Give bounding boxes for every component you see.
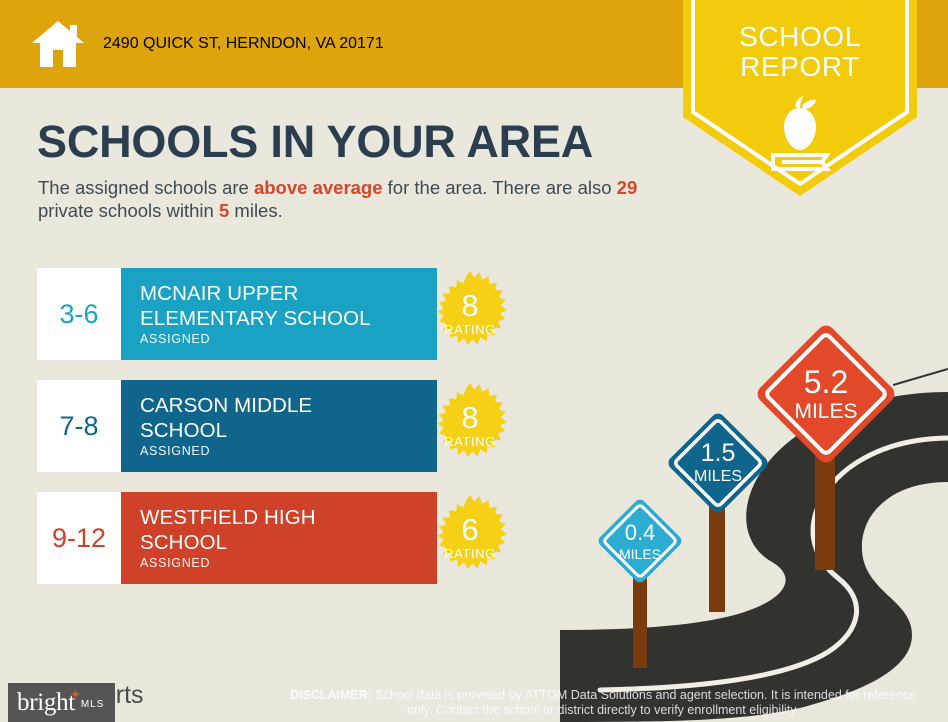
rating-badge: 8 RATING xyxy=(427,271,513,357)
school-row[interactable]: 9-12 WESTFIELD HIGH SCHOOL ASSIGNED 6 RA… xyxy=(37,492,517,584)
distance-unit: MILES xyxy=(794,401,857,422)
school-name: CARSON MIDDLE SCHOOL xyxy=(140,393,437,443)
rating-score: 8 xyxy=(461,291,478,321)
star-icon: ✦ xyxy=(70,687,81,703)
grade-range-box: 7-8 xyxy=(37,380,121,472)
grade-range: 3-6 xyxy=(59,299,98,330)
school-row[interactable]: 3-6 MCNAIR UPPER ELEMENTARY SCHOOL ASSIG… xyxy=(37,268,517,360)
rating-badge-content: 6 RATING xyxy=(427,495,513,581)
rating-score: 6 xyxy=(461,515,478,545)
rating-badge-content: 8 RATING xyxy=(427,383,513,469)
page-subtitle: The assigned schools are above average f… xyxy=(38,176,678,222)
school-report-badge: SCHOOL REPORT xyxy=(683,0,917,196)
school-status-label: ASSIGNED xyxy=(140,556,437,570)
rating-label: RATING xyxy=(444,546,496,561)
disclaimer-label: DISCLAIMER: xyxy=(290,688,372,702)
school-name-bar: MCNAIR UPPER ELEMENTARY SCHOOL ASSIGNED xyxy=(121,268,437,360)
page-title: SCHOOLS IN YOUR AREA xyxy=(37,116,593,168)
subtitle-highlight-rating: above average xyxy=(254,177,383,198)
disclaimer-body: School data is provided by ATTOM Data So… xyxy=(372,688,916,717)
rating-label: RATING xyxy=(444,434,496,449)
pennant-line-1: SCHOOL xyxy=(683,22,917,52)
school-name-bar: CARSON MIDDLE SCHOOL ASSIGNED xyxy=(121,380,437,472)
subtitle-part-1: The assigned schools are xyxy=(38,177,254,198)
home-icon xyxy=(30,19,86,69)
school-name: MCNAIR UPPER ELEMENTARY SCHOOL xyxy=(140,281,437,331)
rating-badge-content: 8 RATING xyxy=(427,271,513,357)
distance-unit: MILES xyxy=(694,469,742,485)
rating-badge: 8 RATING xyxy=(427,383,513,469)
grade-range-box: 3-6 xyxy=(37,268,121,360)
bright-mls-logo[interactable]: bright MLS xyxy=(8,683,115,722)
rating-label: RATING xyxy=(444,322,496,337)
subtitle-part-4: miles. xyxy=(229,200,282,221)
distance-sign: 0.4 MILES xyxy=(592,493,688,589)
distance-value: 0.4 xyxy=(625,522,656,544)
pennant-line-2: REPORT xyxy=(683,52,917,82)
school-name-line-1: MCNAIR UPPER xyxy=(140,281,437,306)
school-name-line-1: CARSON MIDDLE xyxy=(140,393,437,418)
disclaimer-text: DISCLAIMER: School data is provided by A… xyxy=(283,688,923,718)
subtitle-part-3: private schools within xyxy=(38,200,219,221)
rating-score: 8 xyxy=(461,403,478,433)
school-status-label: ASSIGNED xyxy=(140,332,437,346)
rating-badge: 6 RATING xyxy=(427,495,513,581)
school-name-line-2: ELEMENTARY SCHOOL xyxy=(140,306,437,331)
schools-list: 3-6 MCNAIR UPPER ELEMENTARY SCHOOL ASSIG… xyxy=(37,268,517,604)
school-name-line-2: SCHOOL xyxy=(140,418,437,443)
distance-value: 5.2 xyxy=(804,366,848,398)
school-row[interactable]: 7-8 CARSON MIDDLE SCHOOL ASSIGNED 8 RATI… xyxy=(37,380,517,472)
school-name-line-2: SCHOOL xyxy=(140,530,437,555)
distance-value: 1.5 xyxy=(701,441,736,466)
school-name-bar: WESTFIELD HIGH SCHOOL ASSIGNED xyxy=(121,492,437,584)
pennant-label: SCHOOL REPORT xyxy=(683,22,917,82)
grade-range-box: 9-12 xyxy=(37,492,121,584)
distance-sign-text: 0.4 MILES xyxy=(592,493,688,589)
header-content: 2490 QUICK ST, HERNDON, VA 20171 xyxy=(30,0,384,88)
property-address: 2490 QUICK ST, HERNDON, VA 20171 xyxy=(103,35,384,53)
school-status-label: ASSIGNED xyxy=(140,444,437,458)
school-name: WESTFIELD HIGH SCHOOL xyxy=(140,505,437,555)
mls-wordmark: MLS xyxy=(81,699,104,710)
school-report-infographic: 2490 QUICK ST, HERNDON, VA 20171 SCHOOL … xyxy=(0,0,948,722)
bright-wordmark: bright xyxy=(17,689,75,717)
subtitle-part-2: for the area. There are also xyxy=(383,177,617,198)
subtitle-highlight-radius: 5 xyxy=(219,200,229,221)
distance-unit: MILES xyxy=(619,547,661,561)
subtitle-highlight-count: 29 xyxy=(617,177,638,198)
school-name-line-1: WESTFIELD HIGH xyxy=(140,505,437,530)
grade-range: 7-8 xyxy=(59,411,98,442)
grade-range: 9-12 xyxy=(52,523,106,554)
